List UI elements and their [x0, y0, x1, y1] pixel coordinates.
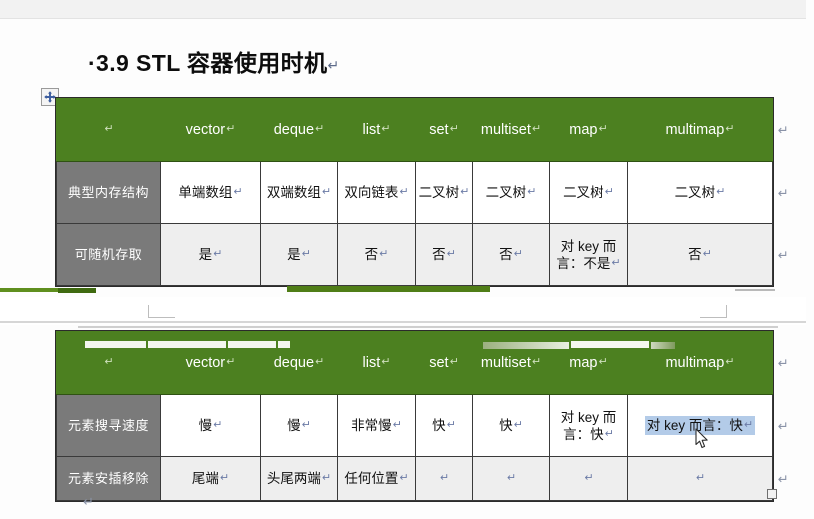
pilcrow-mark: ↵ — [322, 186, 331, 198]
pilcrow-mark: ↵ — [213, 248, 222, 260]
col-label: deque — [274, 122, 314, 138]
table2-header-set: set↵ — [416, 332, 473, 395]
table1-header-blank: ↵ — [57, 99, 161, 162]
table2-header-multiset: multiset↵ — [473, 332, 550, 395]
row-end-mark: ↵ — [778, 355, 789, 372]
pilcrow-mark: ↵ — [611, 257, 620, 269]
table2-r2c3[interactable]: 任何位置↵ — [338, 457, 416, 501]
cell-text: 快 — [432, 418, 446, 433]
pilcrow-mark: ↵ — [460, 186, 469, 198]
table1-r2c7[interactable]: 否↵ ↵ — [628, 224, 773, 286]
pilcrow-mark: ↵ — [450, 356, 459, 368]
table1-r2c4[interactable]: 否↵ — [416, 224, 473, 286]
table1-header-row: ↵ vector↵ deque↵ list↵ set↵ multiset↵ ma… — [57, 99, 773, 162]
pilcrow-mark: ↵ — [393, 419, 402, 431]
col-label: list — [363, 122, 381, 138]
pilcrow-mark: ↵ — [327, 57, 339, 73]
row-end-mark: ↵ — [778, 470, 789, 487]
col-label: vector — [186, 355, 226, 371]
cell-text: 否 — [688, 247, 702, 262]
page-break-line — [0, 321, 814, 323]
col-label: vector — [186, 122, 226, 138]
pilcrow-mark: ↵ — [532, 123, 541, 135]
pilcrow-mark: ↵ — [381, 356, 390, 368]
table2-r1c7-selected[interactable]: 对 key 而言：快↵ ↵ — [628, 395, 773, 457]
table1-r1c6[interactable]: 二叉树↵ — [550, 162, 628, 224]
header-highlight-bar — [651, 342, 675, 349]
pilcrow-mark: ↵ — [599, 356, 608, 368]
green-artifact-bar — [0, 288, 58, 292]
pilcrow-mark: ↵ — [450, 123, 459, 135]
pilcrow-mark: ↵ — [744, 419, 753, 431]
table1-r2c2[interactable]: 是↵ — [261, 224, 338, 286]
table1-header-multiset: multiset↵ — [473, 99, 550, 162]
table2-header-multimap: multimap↵ ↵ — [628, 332, 773, 395]
table2-r1c4[interactable]: 快↵ — [416, 395, 473, 457]
page-margin-marker-right — [700, 305, 727, 318]
cell-text: 对 key 而言：快 — [647, 418, 743, 433]
table1-r1c1[interactable]: 单端数组↵ — [161, 162, 261, 224]
stl-container-table-2[interactable]: ↵ vector↵ deque↵ list↵ set↵ multiset↵ ma… — [56, 331, 773, 501]
pilcrow-mark: ↵ — [532, 356, 541, 368]
table2-r1c2[interactable]: 慢↵ — [261, 395, 338, 457]
table1-r1c4[interactable]: 二叉树↵ — [416, 162, 473, 224]
cell-text: 否 — [365, 247, 379, 262]
pilcrow-mark: ↵ — [584, 472, 593, 484]
table1-header-set: set↵ — [416, 99, 473, 162]
col-label: list — [363, 355, 381, 371]
pilcrow-mark: ↵ — [399, 472, 408, 484]
pilcrow-mark: ↵ — [104, 123, 113, 135]
table1-header-list: list↵ — [338, 99, 416, 162]
table1-r2c6[interactable]: 对 key 而言：不是↵ — [550, 224, 628, 286]
window-top-strip — [0, 0, 814, 19]
cell-text: 二叉树 — [486, 185, 527, 200]
cell-text: 二叉树 — [419, 185, 460, 200]
table2-r2c2[interactable]: 头尾两端↵ — [261, 457, 338, 501]
header-highlight-bar — [483, 342, 569, 349]
cell-text: 对 key 而言：不是 — [556, 239, 616, 271]
pilcrow-mark: ↵ — [233, 186, 242, 198]
table2-r2c1[interactable]: 尾端↵ — [161, 457, 261, 501]
pilcrow-mark: ↵ — [696, 472, 705, 484]
col-label: set — [429, 355, 448, 371]
green-artifact-bar — [58, 288, 96, 293]
col-label: map — [569, 355, 597, 371]
page-margin-marker-left — [148, 305, 175, 318]
pilcrow-mark: ↵ — [302, 419, 311, 431]
table1-header-deque: deque↵ — [261, 99, 338, 162]
table-row[interactable]: 元素安插移除 尾端↵ 头尾两端↵ 任何位置↵ ↵ ↵ ↵ ↵ ↵ — [57, 457, 773, 501]
table2-r2c5[interactable]: ↵ — [473, 457, 550, 501]
pilcrow-mark: ↵ — [399, 186, 408, 198]
cell-text: 头尾两端 — [267, 471, 321, 486]
cell-text: 任何位置 — [344, 471, 398, 486]
pilcrow-mark: ↵ — [213, 419, 222, 431]
row-end-mark: ↵ — [778, 246, 789, 263]
table2-header-list: list↵ — [338, 332, 416, 395]
cell-text: 尾端 — [192, 471, 219, 486]
pilcrow-mark: ↵ — [440, 472, 449, 484]
pilcrow-mark: ↵ — [514, 419, 523, 431]
col-label: multiset — [481, 355, 531, 371]
table1-header-multimap: multimap↵ ↵ — [628, 99, 773, 162]
cell-text: 快 — [499, 418, 513, 433]
table2-row1-label: 元素搜寻速度 — [57, 395, 161, 457]
col-label: deque — [274, 355, 314, 371]
col-label: multimap — [665, 355, 724, 371]
col-label: set — [429, 122, 448, 138]
pilcrow-mark: ↵ — [322, 472, 331, 484]
table2-r2c7[interactable]: ↵ ↵ — [628, 457, 773, 501]
pilcrow-mark: ↵ — [104, 356, 113, 368]
cell-text: 是 — [199, 247, 213, 262]
page-edge-line — [78, 326, 778, 328]
pilcrow-mark: ↵ — [379, 248, 388, 260]
pilcrow-mark: ↵ — [226, 356, 235, 368]
document-page: ·3.9 STL 容器使用时机↵ ↵ vector↵ deque↵ list↵ … — [0, 0, 814, 519]
cell-text: 慢 — [287, 418, 301, 433]
cell-text: 二叉树 — [563, 185, 604, 200]
cell-text: 是 — [287, 247, 301, 262]
pilcrow-mark: ↵ — [725, 123, 734, 135]
cell-text: 二叉树 — [675, 185, 716, 200]
table1-r1c7[interactable]: 二叉树↵ ↵ — [628, 162, 773, 224]
table1-r2c1[interactable]: 是↵ — [161, 224, 261, 286]
table1-r1c5[interactable]: 二叉树↵ — [473, 162, 550, 224]
cell-text: 双向链表 — [344, 185, 398, 200]
header-highlight-bar — [571, 341, 649, 348]
table1-r2c3[interactable]: 否↵ — [338, 224, 416, 286]
pilcrow-mark: ↵ — [302, 248, 311, 260]
table1-r1c3[interactable]: 双向链表↵ — [338, 162, 416, 224]
pilcrow-mark: ↵ — [447, 419, 456, 431]
pilcrow-mark: ↵ — [716, 186, 725, 198]
selected-cell-text[interactable]: 对 key 而言：快↵ — [645, 416, 755, 435]
table2-row2-label: 元素安插移除 — [57, 457, 161, 501]
col-label: map — [569, 122, 597, 138]
table-resize-handle-icon[interactable] — [767, 489, 777, 499]
cell-text: 否 — [432, 247, 446, 262]
table-row[interactable]: 典型内存结构 单端数组↵ 双端数组↵ 双向链表↵ 二叉树↵ 二叉树↵ 二叉树↵ … — [57, 162, 773, 224]
pilcrow-mark: ↵ — [725, 356, 734, 368]
table1-row2-label: 可随机存取 — [57, 224, 161, 286]
table-row[interactable]: 元素搜寻速度 慢↵ 慢↵ 非常慢↵ 快↵ 快↵ 对 key 而言：快↵ 对 ke… — [57, 395, 773, 457]
row-end-mark: ↵ — [778, 122, 789, 139]
stl-container-table-1[interactable]: ↵ vector↵ deque↵ list↵ set↵ multiset↵ ma… — [56, 98, 773, 286]
pilcrow-mark: ↵ — [605, 428, 614, 440]
header-highlight-bar — [228, 341, 276, 348]
cell-text: 单端数组 — [178, 185, 232, 200]
pilcrow-mark: ↵ — [447, 248, 456, 260]
header-highlight-bar — [278, 341, 290, 348]
cell-text: 双端数组 — [267, 185, 321, 200]
cell-text: 非常慢 — [351, 418, 392, 433]
page-title-text: ·3.9 STL 容器使用时机 — [88, 50, 327, 76]
row-end-mark: ↵ — [778, 417, 789, 434]
pilcrow-mark: ↵ — [315, 356, 324, 368]
pilcrow-mark: ↵ — [703, 248, 712, 260]
table1-header-map: map↵ — [550, 99, 628, 162]
page-title: ·3.9 STL 容器使用时机↵ — [88, 44, 340, 78]
pilcrow-mark: ↵ — [507, 472, 516, 484]
pilcrow-mark: ↵ — [315, 123, 324, 135]
pilcrow-mark: ↵ — [220, 472, 229, 484]
header-highlight-bar — [148, 341, 226, 348]
pilcrow-mark: ↵ — [605, 186, 614, 198]
table2-r1c6[interactable]: 对 key 而言：快↵ — [550, 395, 628, 457]
col-label: multimap — [665, 122, 724, 138]
pilcrow-mark: ↵ — [83, 494, 94, 510]
right-edge-strip — [806, 0, 814, 519]
table1-r1c2[interactable]: 双端数组↵ — [261, 162, 338, 224]
table2-r1c5[interactable]: 快↵ — [473, 395, 550, 457]
row-end-mark: ↵ — [778, 184, 789, 201]
table2-r1c1[interactable]: 慢↵ — [161, 395, 261, 457]
pilcrow-mark: ↵ — [226, 123, 235, 135]
table2-r2c6[interactable]: ↵ — [550, 457, 628, 501]
gray-artifact-bar — [735, 289, 775, 291]
table1-header-vector: vector↵ — [161, 99, 261, 162]
pilcrow-mark: ↵ — [599, 123, 608, 135]
col-label: multiset — [481, 122, 531, 138]
table-row[interactable]: 可随机存取 是↵ 是↵ 否↵ 否↵ 否↵ 对 key 而言：不是↵ 否↵ ↵ — [57, 224, 773, 286]
table2-r1c3[interactable]: 非常慢↵ — [338, 395, 416, 457]
pilcrow-mark: ↵ — [514, 248, 523, 260]
green-artifact-bar — [287, 286, 490, 292]
table1-r2c5[interactable]: 否↵ — [473, 224, 550, 286]
table1-row1-label: 典型内存结构 — [57, 162, 161, 224]
header-highlight-bar — [85, 341, 146, 348]
cell-text: 否 — [499, 247, 513, 262]
cell-text: 慢 — [199, 418, 213, 433]
pilcrow-mark: ↵ — [381, 123, 390, 135]
pilcrow-mark: ↵ — [527, 186, 536, 198]
table2-r2c4[interactable]: ↵ — [416, 457, 473, 501]
